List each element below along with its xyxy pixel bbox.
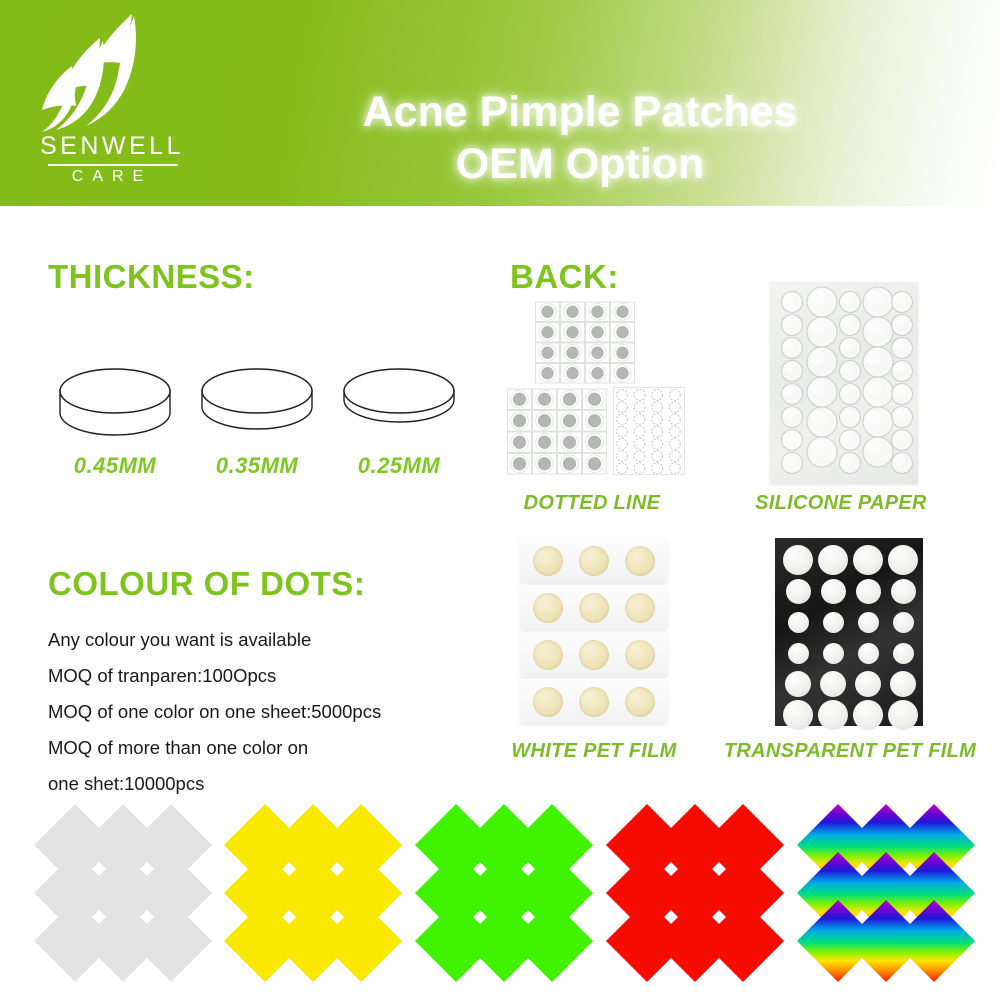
dotted-sheet-bottom-right <box>613 387 685 475</box>
dotted-sheet-top-art <box>533 300 638 385</box>
white-pet-dot <box>579 687 609 717</box>
transparent-pet-dot <box>785 671 811 697</box>
caption-white-pet-film: WHITE PET FILM <box>500 740 688 763</box>
transparent-pet-dot <box>818 545 848 575</box>
brand-name: SENWELL <box>36 132 188 161</box>
white-pet-dot <box>625 640 655 670</box>
swatch-yellow <box>232 812 382 964</box>
thickness-label-0: 0.45MM <box>45 453 185 479</box>
transparent-pet-film-sheet <box>775 538 923 726</box>
caption-dotted-line: DOTTED LINE <box>512 492 672 515</box>
transparent-pet-dot <box>855 671 881 697</box>
silicone-paper-sheet <box>770 282 918 484</box>
silicone-paper-art <box>770 282 918 484</box>
caption-transparent-pet-film: TRANSPARENT PET FILM <box>714 740 986 763</box>
thickness-item-0-45mm: 0.45MM <box>45 365 185 479</box>
transparent-pet-dot <box>856 579 881 604</box>
colour-text-line-2: MOQ of one color on one sheet:5000pcs <box>48 694 478 730</box>
page-header: SENWELL CARE Acne Pimple Patches OEM Opt… <box>0 0 1000 206</box>
caption-silicone-paper: SILICONE PAPER <box>748 492 934 515</box>
brand-logo: SENWELL CARE <box>28 12 198 192</box>
white-pet-dot <box>579 546 609 576</box>
colour-text-line-0: Any colour you want is available <box>48 622 478 658</box>
transparent-pet-dot <box>788 643 809 664</box>
colour-text-line-4: one shet:10000pcs <box>48 766 478 802</box>
white-pet-dot <box>625 687 655 717</box>
swatch-rainbow <box>805 812 955 964</box>
transparent-pet-dot <box>783 545 813 575</box>
thickness-item-0-25mm: 0.25MM <box>329 365 469 479</box>
white-pet-dot <box>579 593 609 623</box>
thickness-item-0-35mm: 0.35MM <box>187 365 327 479</box>
transparent-pet-dot <box>888 545 918 575</box>
dotted-sheet-br-art <box>613 387 685 475</box>
transparent-pet-dot <box>820 671 846 697</box>
white-pet-film-sheet <box>520 538 668 726</box>
transparent-pet-dot <box>786 579 811 604</box>
transparent-pet-dot <box>818 700 848 730</box>
transparent-pet-dot <box>893 643 914 664</box>
flame-leaf-logo-icon <box>42 12 172 134</box>
swatch-transparent-gray <box>42 812 192 964</box>
white-pet-dot <box>625 546 655 576</box>
thickness-disc-row: 0.45MM 0.35MM 0.25MM <box>45 365 485 485</box>
white-pet-dot <box>533 593 563 623</box>
white-pet-dot <box>625 593 655 623</box>
transparent-pet-dot <box>893 612 914 633</box>
brand-tagline: CARE <box>36 168 188 186</box>
thickness-label-2: 0.25MM <box>329 453 469 479</box>
transparent-pet-dot <box>888 700 918 730</box>
white-pet-dot <box>533 640 563 670</box>
transparent-pet-dot <box>823 643 844 664</box>
transparent-pet-dot <box>891 579 916 604</box>
disc-035-icon <box>196 365 318 443</box>
swatch-green <box>423 812 573 964</box>
transparent-pet-dot <box>788 612 809 633</box>
white-pet-dot <box>579 640 609 670</box>
white-pet-dot <box>533 546 563 576</box>
transparent-pet-dot <box>890 671 916 697</box>
swatch-red <box>614 812 764 964</box>
page-title-line-1: Acne Pimple Patches <box>200 86 960 138</box>
colour-of-dots-text: Any colour you want is available MOQ of … <box>48 622 478 802</box>
colour-text-line-1: MOQ of tranparen:100Opcs <box>48 658 478 694</box>
white-pet-dot <box>533 687 563 717</box>
dotted-sheet-bottom-left <box>505 387 610 475</box>
disc-045-icon <box>54 365 176 443</box>
transparent-pet-dot <box>821 579 846 604</box>
page-title-line-2: OEM Option <box>200 138 960 190</box>
disc-025-icon <box>338 365 460 443</box>
transparent-pet-dot <box>858 643 879 664</box>
back-heading: BACK: <box>510 258 619 296</box>
dotted-sheet-top <box>533 300 638 385</box>
transparent-pet-dot <box>783 700 813 730</box>
colour-of-dots-heading: COLOUR OF DOTS: <box>48 565 365 603</box>
dotted-line-sheets <box>505 300 685 485</box>
colour-text-line-3: MOQ of more than one color on <box>48 730 478 766</box>
transparent-pet-dot <box>858 612 879 633</box>
thickness-label-1: 0.35MM <box>187 453 327 479</box>
transparent-pet-dot <box>823 612 844 633</box>
thickness-heading: THICKNESS: <box>48 258 255 296</box>
page-title: Acne Pimple Patches OEM Option <box>200 86 960 190</box>
transparent-pet-dot <box>853 545 883 575</box>
dotted-sheet-bl-art <box>505 387 610 475</box>
colour-swatch-row <box>0 812 1000 972</box>
logo-divider <box>48 164 178 166</box>
transparent-pet-dot <box>853 700 883 730</box>
